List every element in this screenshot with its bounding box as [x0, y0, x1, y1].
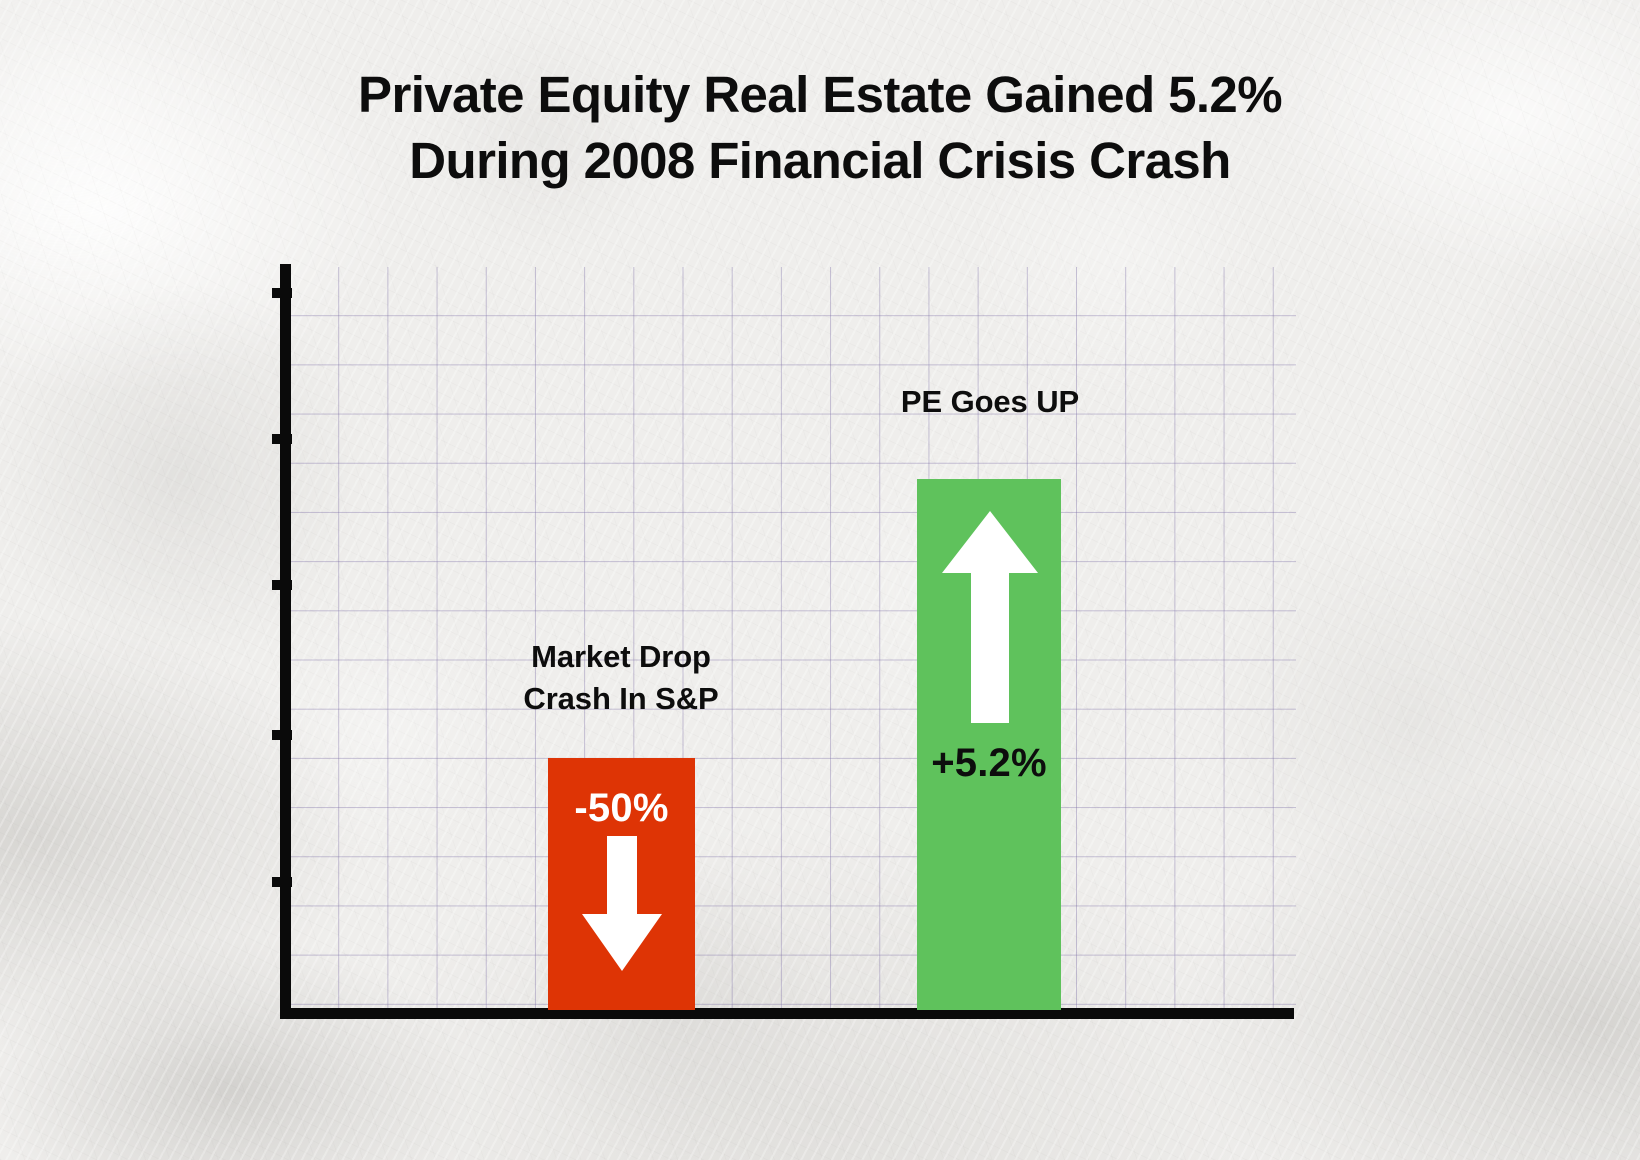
- chart-title-line-2: During 2008 Financial Crisis Crash: [0, 128, 1640, 194]
- chart-title: Private Equity Real Estate Gained 5.2% D…: [0, 62, 1640, 194]
- up-arrow-icon: [939, 511, 1041, 730]
- down-arrow-icon: [572, 836, 672, 981]
- bar-annotation-pe-goes-up-line-1: PE Goes UP: [820, 381, 1160, 423]
- chart-title-line-1: Private Equity Real Estate Gained 5.2%: [0, 62, 1640, 128]
- bar-annotation-market-drop-line-2: Crash In S&P: [451, 678, 791, 720]
- bar-value-pe-goes-up: +5.2%: [917, 741, 1061, 786]
- y-axis-line: [280, 264, 291, 1019]
- y-axis-tick-2: [272, 434, 292, 444]
- bar-market-drop[interactable]: -50%: [548, 758, 695, 1010]
- x-axis-line: [280, 1008, 1294, 1019]
- bar-pe-goes-up[interactable]: +5.2%: [917, 479, 1061, 1010]
- y-axis-tick-5: [272, 877, 292, 887]
- plot-area: [290, 267, 1296, 1015]
- bar-annotation-market-drop: Market Drop Crash In S&P: [451, 636, 791, 720]
- bar-annotation-market-drop-line-1: Market Drop: [451, 636, 791, 678]
- y-axis-tick-4: [272, 730, 292, 740]
- grid-lines: [290, 267, 1296, 1015]
- bar-value-market-drop: -50%: [548, 786, 695, 831]
- y-axis-tick-1: [272, 288, 292, 298]
- y-axis-tick-3: [272, 580, 292, 590]
- bar-annotation-pe-goes-up: PE Goes UP: [820, 381, 1160, 423]
- infographic-canvas: Private Equity Real Estate Gained 5.2% D…: [0, 0, 1640, 1160]
